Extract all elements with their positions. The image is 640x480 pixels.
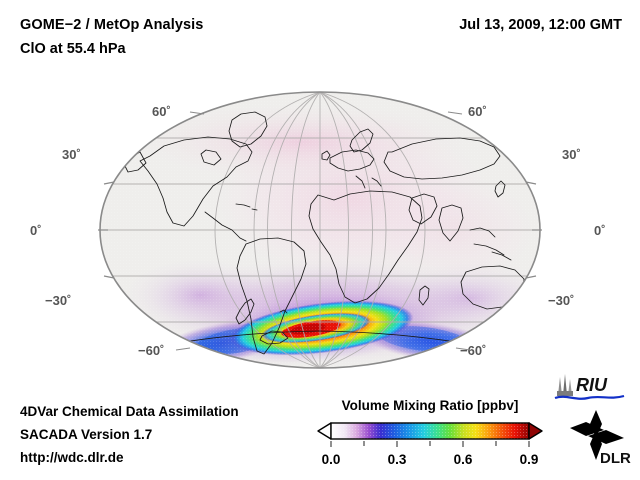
lat-label-left-m30: −30˚: [45, 293, 71, 308]
dlr-logo: DLR: [566, 408, 634, 466]
footer-line-version: SACADA Version 1.7: [20, 423, 239, 446]
colorbar-tick-0: 0.0: [322, 452, 341, 467]
map-panel: 30˚ 0˚ −30˚ 30˚ 0˚ −30˚ 60˚ 60˚ −60˚ −60…: [0, 80, 640, 380]
colorbar: Volume Mixing Ratio [ppbv]: [310, 398, 550, 470]
footer-line-method: 4DVar Chemical Data Assimilation: [20, 400, 239, 423]
colorbar-tick-2: 0.6: [454, 452, 473, 467]
riu-logo: RIU: [552, 373, 632, 403]
lat-label-right-0: 0˚: [594, 223, 606, 238]
lat-label-inner-m60-east: −60˚: [460, 343, 486, 358]
riu-towers-icon: [557, 374, 573, 396]
colorbar-tick-1: 0.3: [388, 452, 407, 467]
page-subtitle: ClO at 55.4 hPa: [20, 41, 126, 57]
clo-data-field: [100, 92, 565, 374]
lat-label-right-m30: −30˚: [548, 293, 574, 308]
colorbar-gradient: [310, 420, 550, 450]
colorbar-over-arrow: [529, 423, 542, 439]
lat-label-right-30: 30˚: [562, 147, 581, 162]
lat-label-left-30: 30˚: [62, 147, 81, 162]
lat-label-inner-60-east: 60˚: [468, 104, 487, 119]
colorbar-title: Volume Mixing Ratio [ppbv]: [310, 398, 550, 413]
lat-labels-left: 30˚ 0˚ −30˚: [30, 147, 81, 308]
page-title: GOME−2 / MetOp Analysis: [20, 17, 203, 33]
lat-label-inner-m60-west: −60˚: [138, 343, 164, 358]
riu-wave-icon: [555, 396, 624, 399]
footer-text-block: 4DVar Chemical Data Assimilation SACADA …: [20, 400, 239, 469]
riu-wordmark: RIU: [576, 375, 608, 395]
mollweide-map: 30˚ 0˚ −30˚ 30˚ 0˚ −30˚ 60˚ 60˚ −60˚ −60…: [0, 80, 640, 380]
colorbar-ticks: [331, 441, 529, 447]
colorbar-under-arrow: [318, 423, 331, 439]
lat-label-inner-60-west: 60˚: [152, 104, 171, 119]
lat-labels-right: 30˚ 0˚ −30˚: [548, 147, 606, 308]
footer-line-url[interactable]: http://wdc.dlr.de: [20, 446, 239, 469]
colorbar-tick-3: 0.9: [520, 452, 539, 467]
timestamp-label: Jul 13, 2009, 12:00 GMT: [459, 17, 622, 33]
lat-label-left-0: 0˚: [30, 223, 42, 238]
dlr-wordmark: DLR: [600, 450, 631, 466]
